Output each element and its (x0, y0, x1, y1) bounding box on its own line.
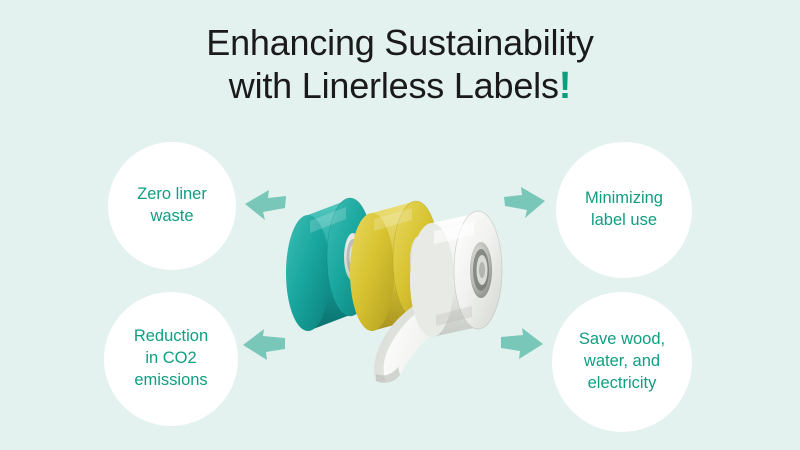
arrow-right-icon-bottom (499, 327, 545, 370)
benefit-label-reduction-co2-emissions: Reduction in CO2 emissions (124, 326, 218, 391)
benefit-circle-zero-liner-waste[interactable]: Zero liner waste (108, 142, 236, 270)
benefit-circle-minimizing-label-use[interactable]: Minimizing label use (556, 142, 692, 278)
title-line-1: Enhancing Sustainability (0, 22, 800, 64)
page-title: Enhancing Sustainability with Linerless … (0, 22, 800, 109)
arrow-right-icon-top (503, 182, 547, 225)
benefit-circle-save-wood-water-electricity[interactable]: Save wood, water, and electricity (552, 292, 692, 432)
title-exclamation-mark: ! (559, 65, 571, 107)
infographic-canvas: Enhancing Sustainability with Linerless … (0, 0, 800, 450)
benefit-label-save-wood-water-electricity: Save wood, water, and electricity (569, 329, 675, 394)
arrow-right-glyph-bottom (499, 327, 545, 365)
arrow-right-glyph-top (503, 182, 547, 220)
title-line-2: with Linerless Labels! (0, 64, 800, 109)
arrow-left-icon-bottom (241, 328, 287, 371)
arrow-left-glyph-bottom (241, 328, 287, 366)
arrow-left-glyph-top (243, 186, 287, 224)
benefit-label-zero-liner-waste: Zero liner waste (127, 184, 217, 228)
benefit-label-minimizing-label-use: Minimizing label use (575, 188, 673, 232)
benefit-circle-reduction-co2-emissions[interactable]: Reduction in CO2 emissions (104, 292, 238, 426)
title-line-2-text: with Linerless Labels (229, 65, 559, 106)
arrow-left-icon-top (243, 186, 287, 229)
